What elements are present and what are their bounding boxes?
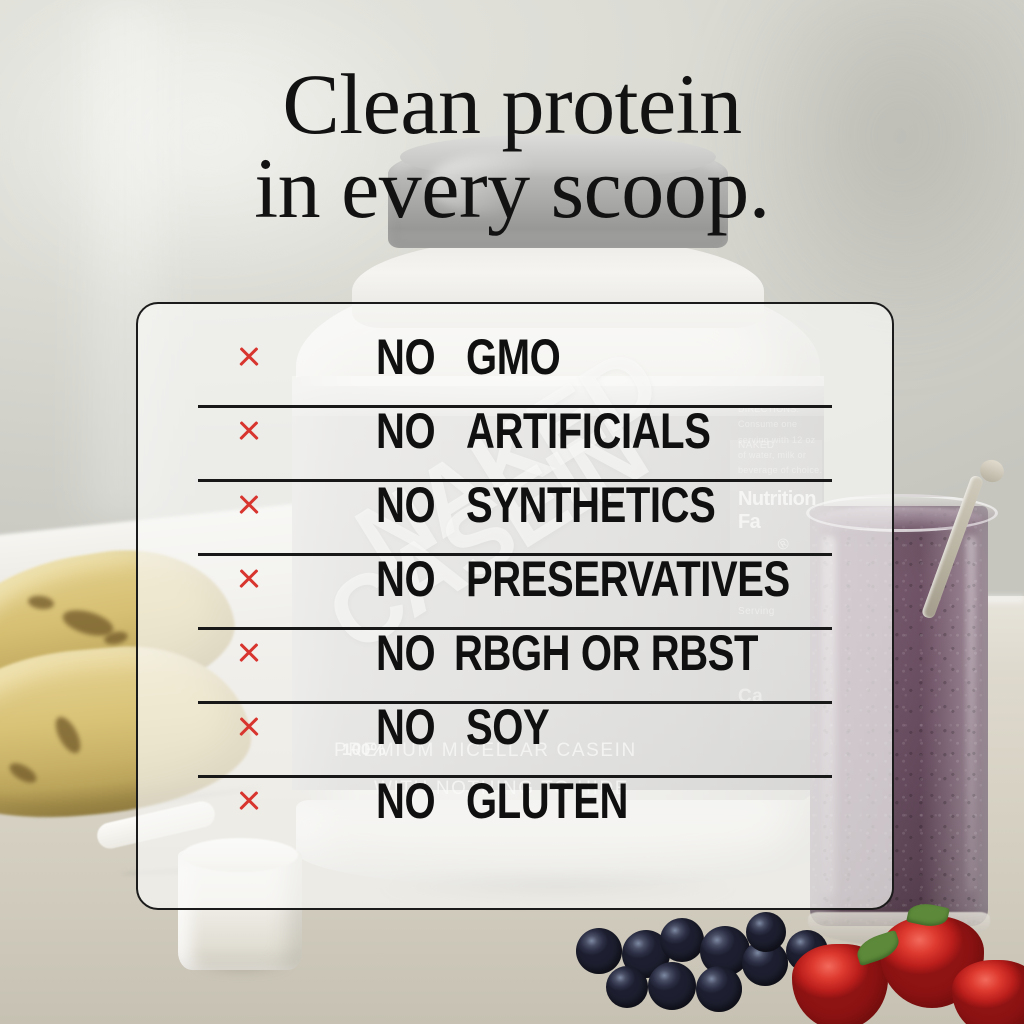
cross-icon xyxy=(236,566,262,592)
list-item: NO SOY xyxy=(136,690,890,764)
cross-icon xyxy=(236,640,262,666)
blueberry xyxy=(576,928,622,974)
claim-prefix: NO xyxy=(376,402,435,460)
list-item: NO SYNTHETICS xyxy=(136,468,890,542)
claim-prefix: NO xyxy=(376,476,435,534)
cross-icon xyxy=(236,344,262,370)
list-item: NO GMO xyxy=(136,320,890,394)
claim-prefix: NO xyxy=(376,328,435,386)
list-item: NO ARTIFICIALS xyxy=(136,394,890,468)
blueberry xyxy=(660,918,704,962)
claim-prefix: NO xyxy=(376,550,435,608)
cross-icon xyxy=(236,492,262,518)
claim-prefix: NO xyxy=(376,624,435,682)
claim-term: SYNTHETICS xyxy=(466,476,715,534)
list-item: NO PRESERVATIVES xyxy=(136,542,890,616)
claim-prefix: NO xyxy=(376,772,435,830)
claim-term: GLUTEN xyxy=(466,772,628,830)
promo-image: NAKED CASEIN ® 100% PREMIUM MICELLAR CAS… xyxy=(0,0,1024,1024)
glass-highlight xyxy=(966,536,976,892)
cross-icon xyxy=(236,714,262,740)
blueberry xyxy=(746,912,786,952)
claims-list: NO GMO NO ARTIFICIALS NO SYNTHETICS NO P… xyxy=(136,302,890,906)
strawberry xyxy=(952,960,1024,1024)
headline: Clean protein in every scoop. xyxy=(0,62,1024,231)
claim-term: GMO xyxy=(466,328,560,386)
blueberry xyxy=(606,966,648,1008)
claim-term: RBGH OR RBST xyxy=(454,624,758,682)
blueberry xyxy=(696,966,742,1012)
list-item: NO GLUTEN xyxy=(136,764,890,838)
cross-icon xyxy=(236,788,262,814)
list-item: NO RBGH OR RBST xyxy=(136,616,890,690)
claim-term: ARTIFICIALS xyxy=(466,402,710,460)
claim-prefix: NO xyxy=(376,698,435,756)
claim-term: PRESERVATIVES xyxy=(466,550,790,608)
cross-icon xyxy=(236,418,262,444)
blueberry xyxy=(648,962,696,1010)
claim-term: SOY xyxy=(466,698,549,756)
